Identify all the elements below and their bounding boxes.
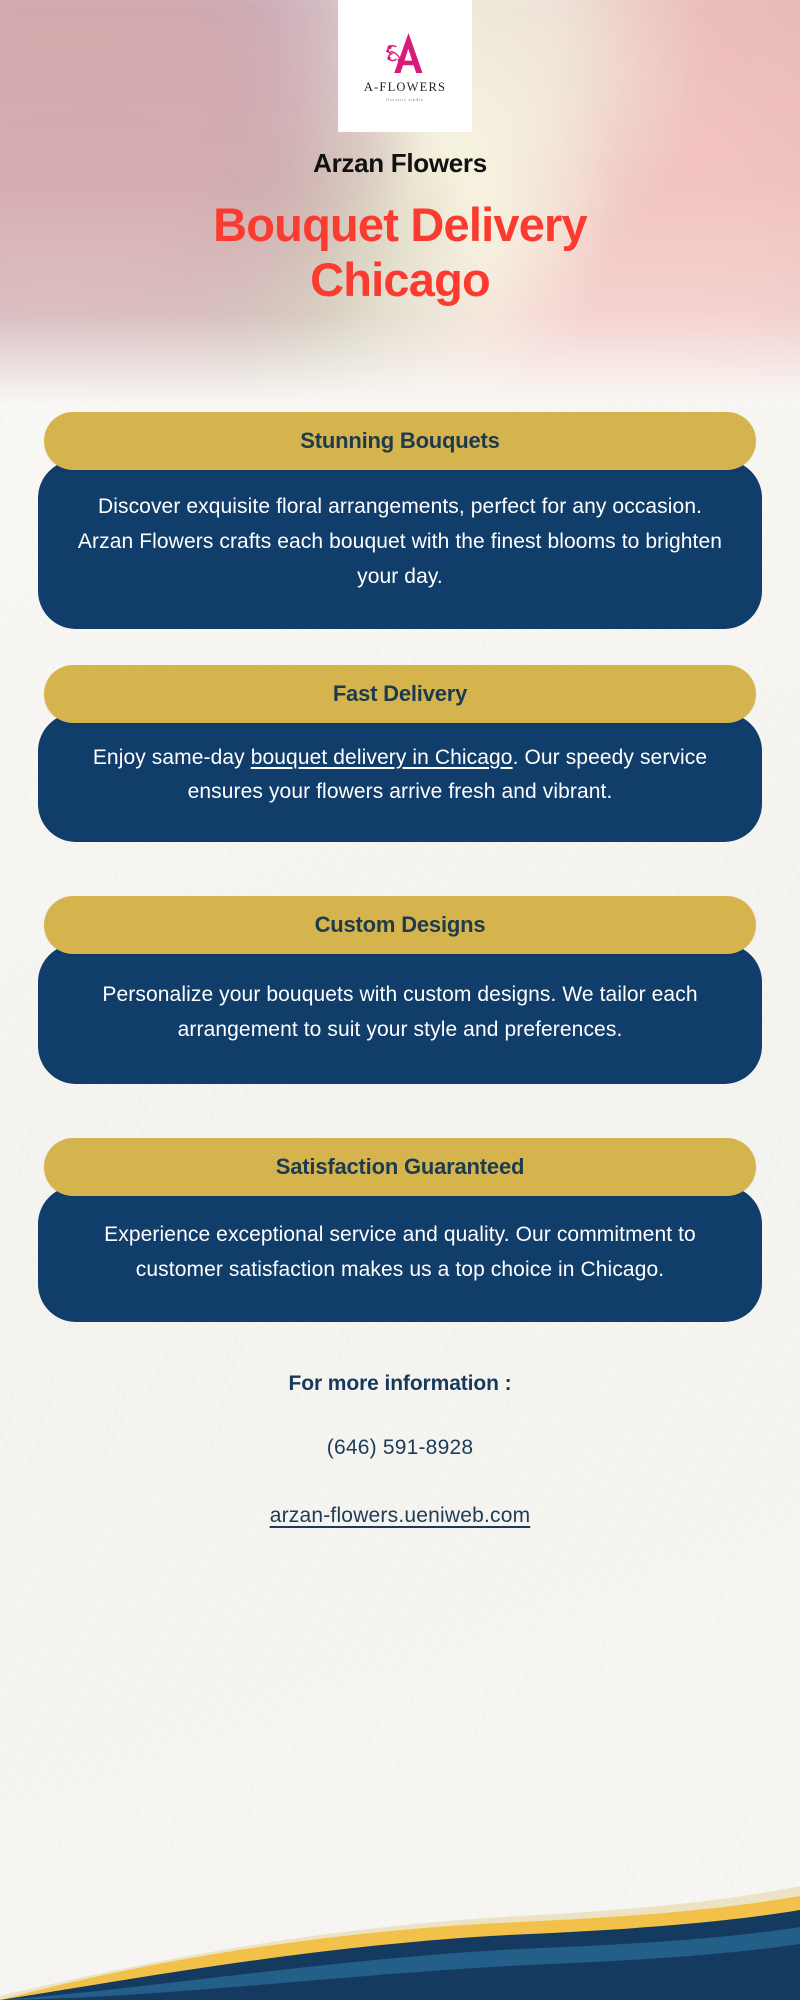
card-header-title: Fast Delivery bbox=[333, 681, 467, 707]
card-body-panel: Experience exceptional service and quali… bbox=[38, 1186, 762, 1322]
page-title: Bouquet Delivery Chicago bbox=[0, 198, 800, 307]
flower-monogram-a-icon bbox=[378, 30, 432, 78]
card-header-pill: Fast Delivery bbox=[44, 665, 756, 723]
card-header-pill: Stunning Bouquets bbox=[44, 412, 756, 470]
logo-tagline: floristic studio bbox=[386, 97, 424, 102]
card-body-text-part-1: Discover exquisite floral arrangements, … bbox=[78, 495, 722, 588]
hero-banner: A-FLOWERS floristic studio Arzan Flowers… bbox=[0, 0, 800, 404]
card-body-text: Personalize your bouquets with custom de… bbox=[72, 978, 728, 1048]
feature-card-fast-delivery: Fast Delivery Enjoy same-day bouquet del… bbox=[38, 665, 762, 843]
footer-website-link[interactable]: arzan-flowers.ueniweb.com bbox=[270, 1504, 531, 1528]
brand-name: Arzan Flowers bbox=[0, 148, 800, 179]
feature-card-list: Stunning Bouquets Discover exquisite flo… bbox=[0, 404, 800, 1322]
bouquet-delivery-chicago-link[interactable]: bouquet delivery in Chicago bbox=[251, 746, 513, 769]
page-title-line-2: Chicago bbox=[0, 253, 800, 308]
card-header-title: Stunning Bouquets bbox=[300, 428, 499, 454]
card-header-title: Custom Designs bbox=[315, 912, 486, 938]
card-body-text-part-1: Experience exceptional service and quali… bbox=[104, 1223, 696, 1281]
card-body-panel: Discover exquisite floral arrangements, … bbox=[38, 460, 762, 629]
card-body-text: Enjoy same-day bouquet delivery in Chica… bbox=[72, 741, 728, 811]
footer-heading: For more information : bbox=[0, 1372, 800, 1396]
card-body-text: Discover exquisite floral arrangements, … bbox=[72, 490, 728, 595]
card-body-panel: Enjoy same-day bouquet delivery in Chica… bbox=[38, 713, 762, 843]
card-body-panel: Personalize your bouquets with custom de… bbox=[38, 944, 762, 1084]
card-header-pill: Custom Designs bbox=[44, 896, 756, 954]
card-body-text: Experience exceptional service and quali… bbox=[72, 1218, 728, 1288]
infographic-page: A-FLOWERS floristic studio Arzan Flowers… bbox=[0, 0, 800, 2000]
card-header-pill: Satisfaction Guaranteed bbox=[44, 1138, 756, 1196]
card-body-text-part-1: Personalize your bouquets with custom de… bbox=[102, 983, 697, 1041]
feature-card-stunning-bouquets: Stunning Bouquets Discover exquisite flo… bbox=[38, 412, 762, 629]
card-header-title: Satisfaction Guaranteed bbox=[276, 1154, 524, 1180]
bottom-wave-decoration bbox=[0, 1810, 800, 2000]
feature-card-satisfaction-guaranteed: Satisfaction Guaranteed Experience excep… bbox=[38, 1138, 762, 1322]
feature-card-custom-designs: Custom Designs Personalize your bouquets… bbox=[38, 896, 762, 1084]
contact-footer: For more information : (646) 591-8928 ar… bbox=[0, 1358, 800, 1528]
footer-phone-number[interactable]: (646) 591-8928 bbox=[0, 1436, 800, 1460]
logo-wordmark: A-FLOWERS bbox=[364, 80, 446, 95]
page-title-line-1: Bouquet Delivery bbox=[0, 198, 800, 253]
brand-logo-card: A-FLOWERS floristic studio bbox=[338, 0, 472, 132]
card-body-text-part-1: Enjoy same-day bbox=[93, 746, 251, 769]
